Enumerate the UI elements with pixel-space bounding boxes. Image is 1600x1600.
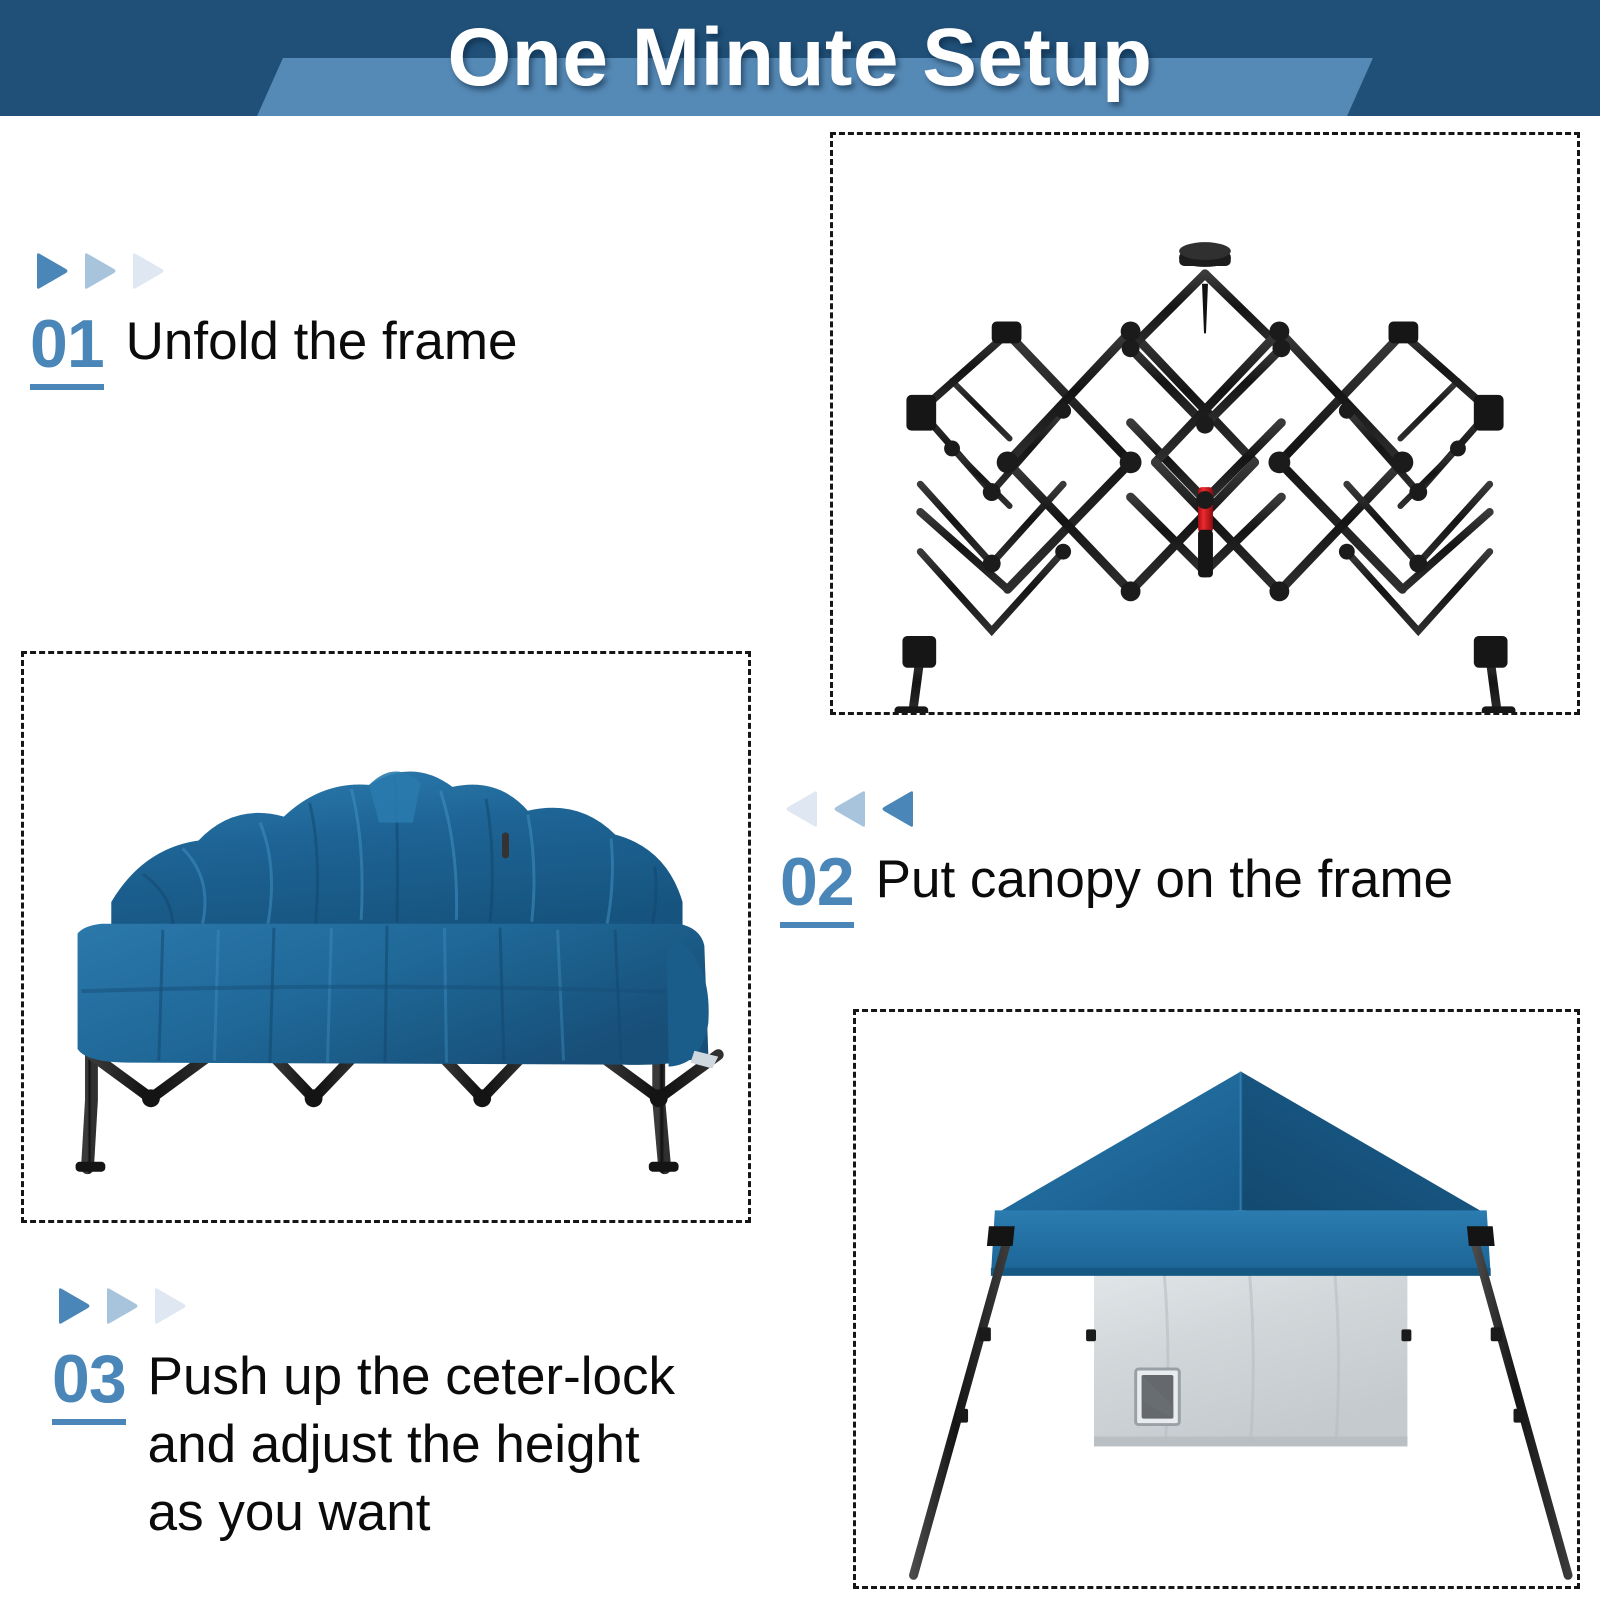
triangle-right-icon <box>30 250 70 292</box>
step-01: 01 Unfold the frame <box>30 248 517 390</box>
triangle-left-icon <box>832 788 872 830</box>
frame-unfolded-illustration <box>833 135 1577 713</box>
triangle-left-icon <box>784 788 824 830</box>
step-number: 02 <box>780 846 854 918</box>
draped-canopy-fabric <box>78 772 719 1069</box>
triangle-right-icon <box>52 1285 92 1327</box>
triangle-right-icon <box>126 250 166 292</box>
step-01-arrows <box>30 248 517 294</box>
triangle-right-icon <box>78 250 118 292</box>
step-03-number-block: 03 <box>52 1343 126 1425</box>
canopy-valance <box>991 1210 1491 1275</box>
triangle-right-icon <box>100 1285 140 1327</box>
header-banner: One Minute Setup <box>0 0 1600 116</box>
panel-canopy-assembled <box>853 1009 1580 1589</box>
step-number-underline <box>52 1419 126 1425</box>
canopy-assembled-illustration <box>856 1012 1577 1587</box>
step-number-underline <box>780 922 854 928</box>
panel-frame-unfolded <box>830 132 1580 715</box>
panel-canopy-draped <box>21 651 751 1223</box>
step-number-underline <box>30 384 104 390</box>
canopy-draped-illustration <box>24 654 748 1221</box>
step-description: Put canopy on the frame <box>876 846 1453 914</box>
triangle-left-icon <box>880 788 920 830</box>
step-02-number-block: 02 <box>780 846 854 928</box>
canopy-roof-right <box>1241 1072 1487 1215</box>
step-02: 02 Put canopy on the frame <box>780 786 1453 928</box>
step-number: 03 <box>52 1343 126 1415</box>
step-description: Unfold the frame <box>126 308 518 376</box>
sidewall-window <box>1136 1369 1180 1425</box>
canopy-roof-left <box>995 1072 1241 1215</box>
step-description: Push up the ceter-lock and adjust the he… <box>148 1343 675 1547</box>
step-01-number-block: 01 <box>30 308 104 390</box>
draped-frame-legs <box>76 1051 719 1172</box>
canopy-sidewall <box>1094 1262 1407 1446</box>
step-02-arrows <box>780 786 1453 832</box>
step-03: 03 Push up the ceter-lock and adjust the… <box>52 1283 675 1547</box>
step-number: 01 <box>30 308 104 380</box>
page-title: One Minute Setup <box>0 0 1600 116</box>
triangle-right-icon <box>148 1285 188 1327</box>
step-03-arrows <box>52 1283 675 1329</box>
